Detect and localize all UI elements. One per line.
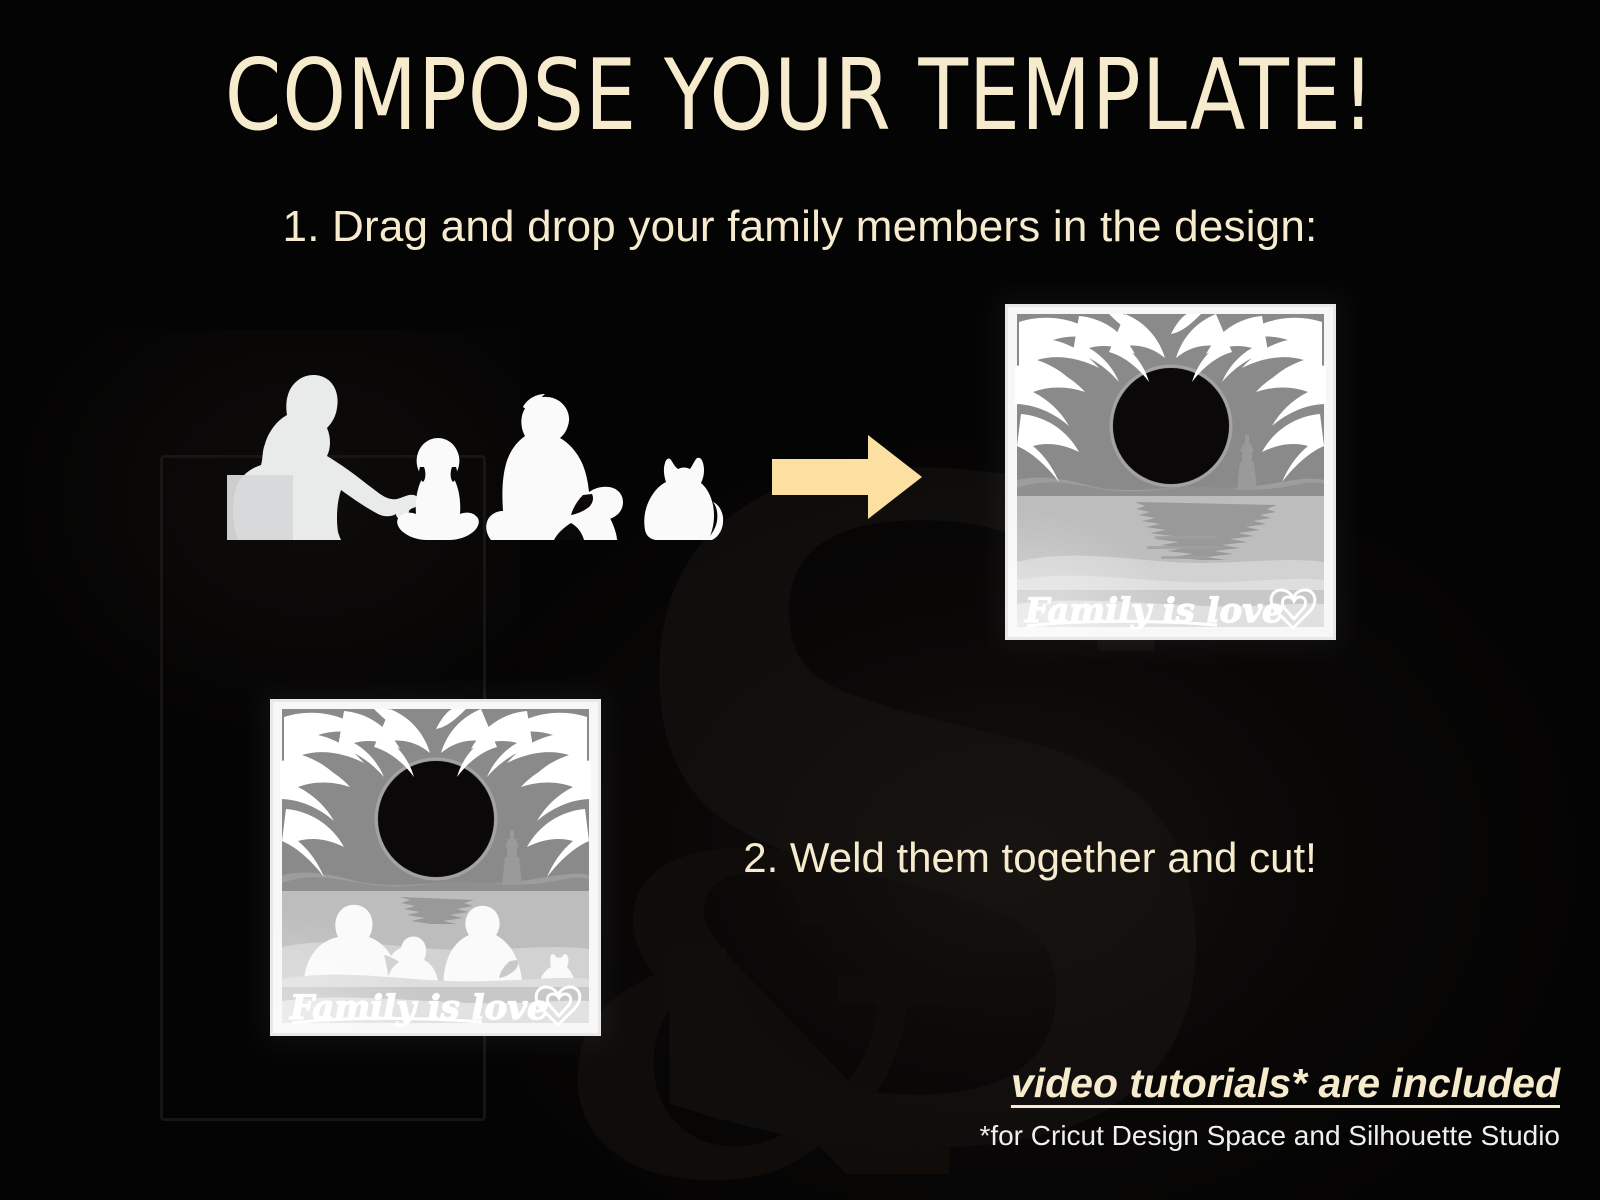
family-silhouette-row[interactable] [205, 355, 725, 540]
template-preview-welded[interactable]: Family is love [270, 699, 601, 1036]
father-silhouette [486, 394, 623, 540]
software-footnote: *for Cricut Design Space and Silhouette … [900, 1118, 1560, 1154]
right-arrow-icon [772, 432, 922, 522]
child-silhouette [397, 438, 479, 540]
template-preview-empty[interactable]: Family is love [1005, 304, 1336, 640]
step-2-instruction: 2. Weld them together and cut! [700, 832, 1360, 884]
cat-silhouette [644, 458, 723, 540]
poster-canvas: S & COMPOSE YOUR TEMPLATE! 1. Drag and d… [0, 0, 1600, 1200]
mother-silhouette [227, 375, 419, 540]
video-tutorials-note: video tutorials* are included [900, 1058, 1560, 1108]
page-title: COMPOSE YOUR TEMPLATE! [64, 44, 1536, 148]
step-1-instruction: 1. Drag and drop your family members in … [0, 200, 1600, 254]
